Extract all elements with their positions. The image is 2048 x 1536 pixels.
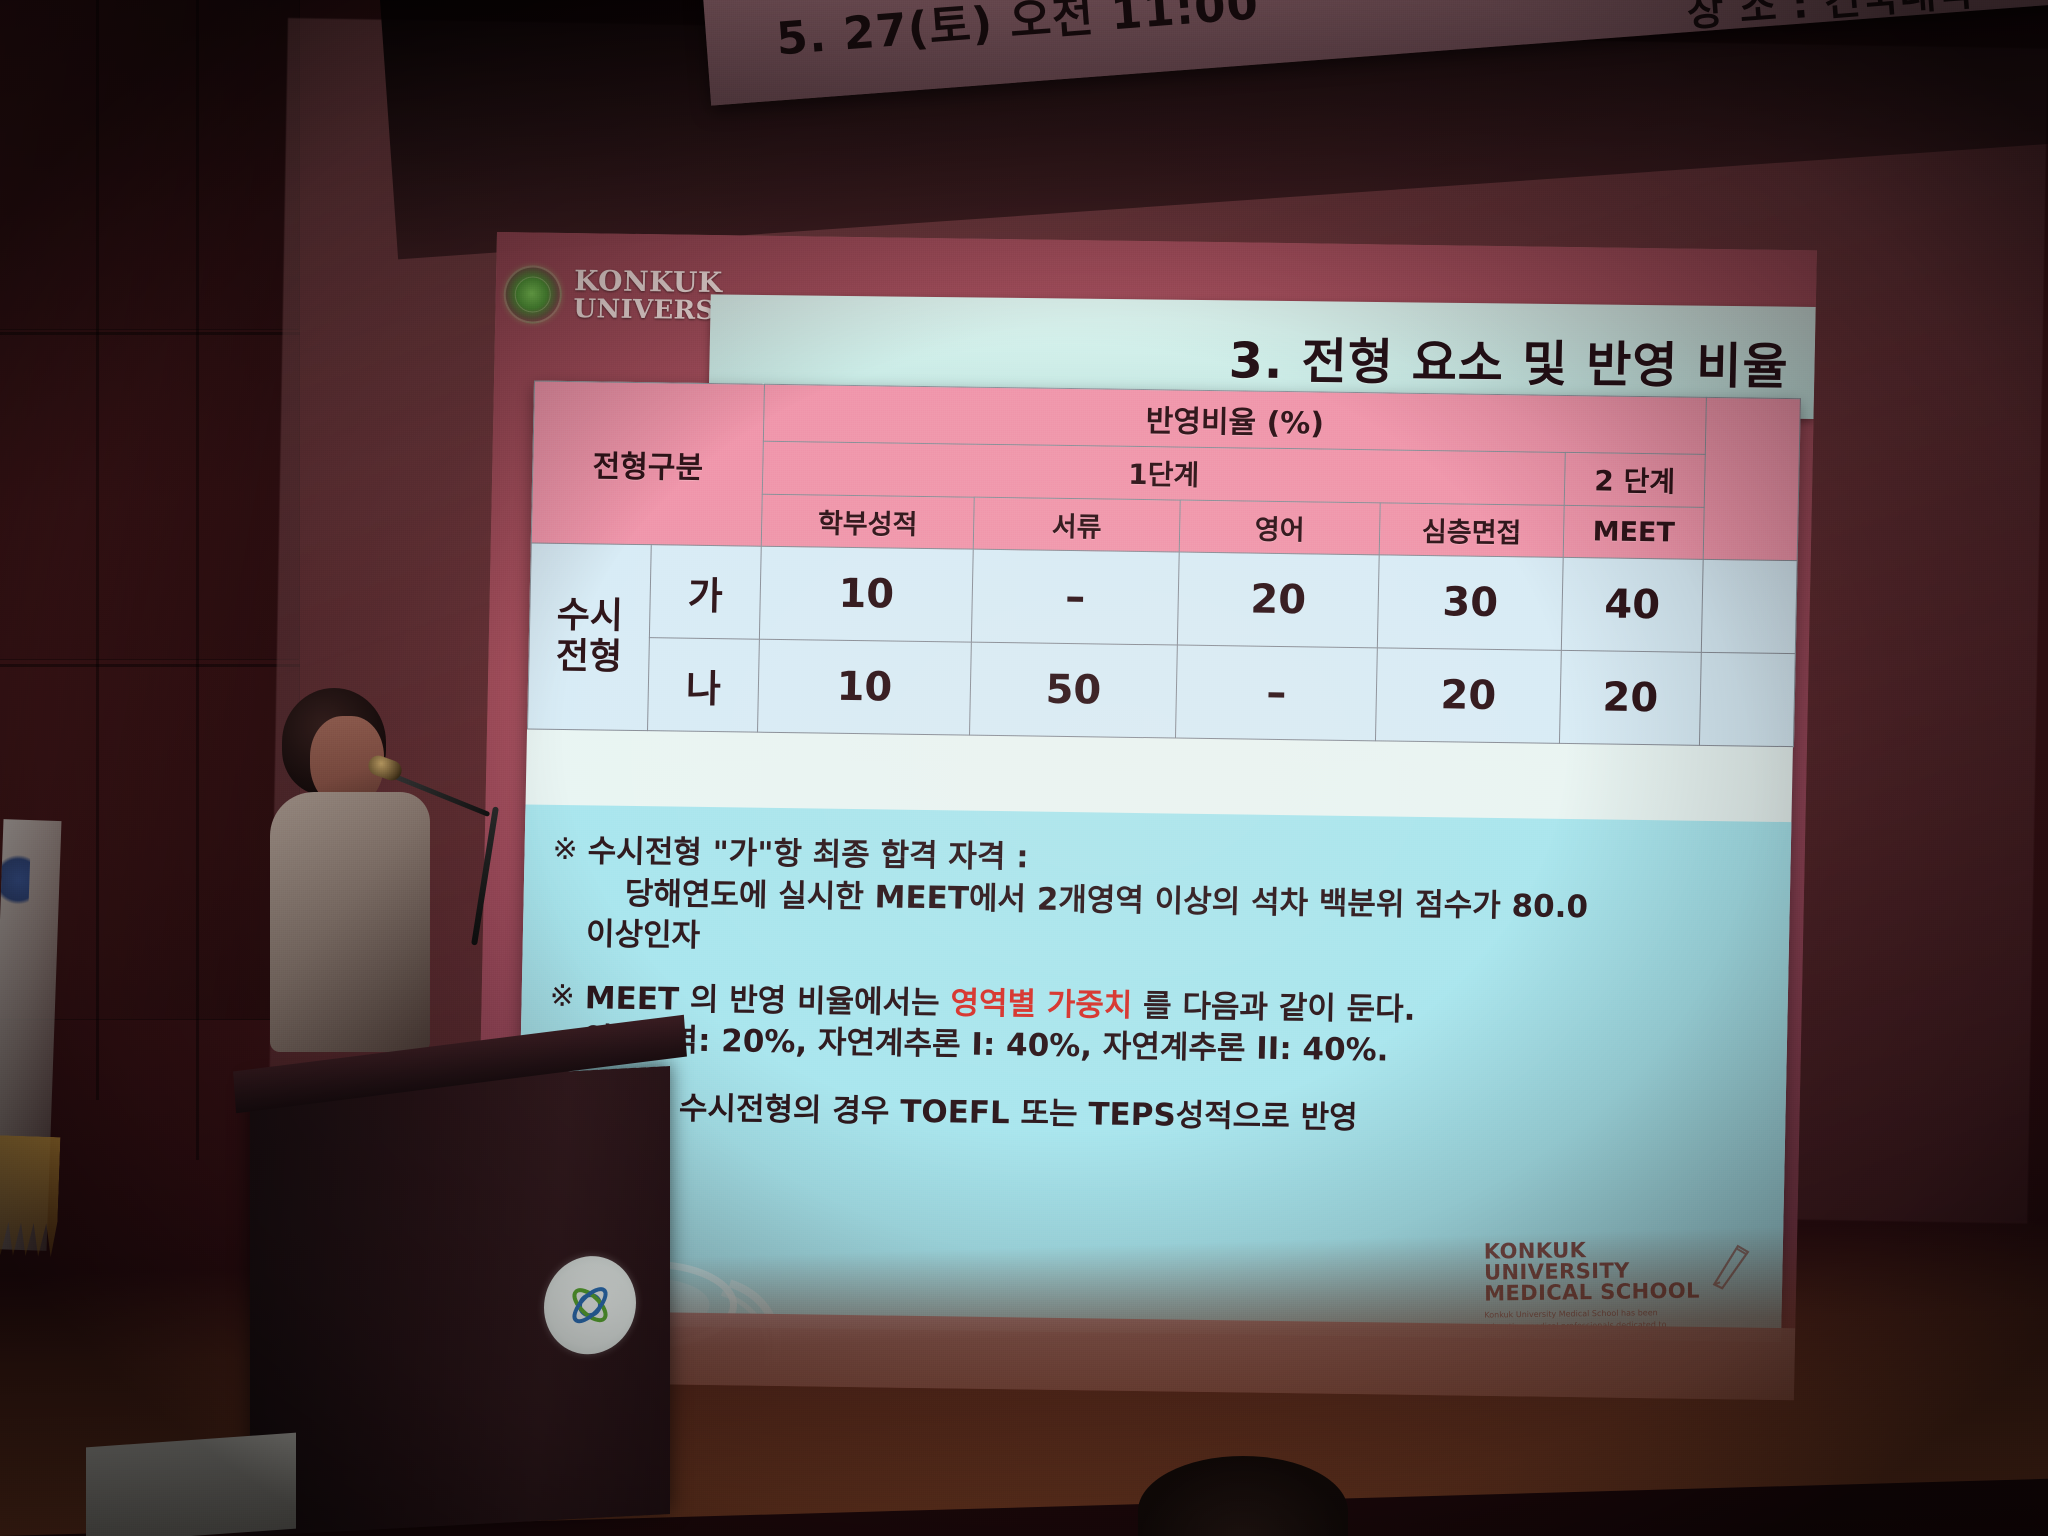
td-row-label-ga: 가 [649,545,761,640]
td-ga-undergrad: 10 [759,546,973,642]
th-spacer [1703,397,1800,560]
auditorium-scene: 의학전문대학원 5. 27(토) 오전 11:00 장 소 : 건국대학 KON… [0,0,2048,1536]
wall-seam [196,0,199,1160]
note-2-highlight: 영역별 가중치 [950,985,1133,1024]
admission-ratio-table: 전형구분 반영비율 (%) 1단계 2 단계 학부성적 서류 영어 심 [527,381,1801,748]
th-meet: MEET [1563,505,1704,559]
table-body: 수시전형 가 10 – 20 30 40 나 10 50 [528,543,1798,747]
th-undergrad-grades: 학부성적 [761,494,974,549]
konkuk-university-logo: KONKUK UNIVERSITY [503,254,745,337]
td-ga-documents: – [971,549,1179,645]
td-row-group-label: 수시전형 [528,543,652,731]
note-2-line2: 언어영역: 20%, 자연계추론 I: 40%, 자연계추론 II: 40%. [584,1019,1415,1072]
note-2-body: MEET 의 반영 비율에서는 영역별 가중치 를 다음과 같이 둔다. 언어영… [584,978,1416,1073]
slide-title: 3. 전형 요소 및 반영 비율 [1228,321,1789,398]
td-na-spacer [1699,652,1795,746]
table-head: 전형구분 반영비율 (%) 1단계 2 단계 학부성적 서류 영어 심 [531,381,1800,561]
note-1-line3: 이상인자 [586,916,701,954]
projected-slide: KONKUK UNIVERSITY 3. 전형 요소 및 반영 비율 [474,232,1817,1400]
podium-emblem-icon [544,1254,636,1357]
note-1-line1: 수시전형 "가"항 최종 합격 자격 : [587,833,1029,875]
foreground-table [86,1433,296,1536]
flag-fringe [0,1135,60,1257]
note-1-body: 수시전형 "가"항 최종 합격 자격 : 당해연도에 실시한 MEET에서 2개… [586,831,1590,970]
td-na-documents: 50 [969,642,1177,738]
flag-emblem-icon [0,849,30,910]
td-na-english: – [1175,645,1377,741]
note-marker-icon: ※ [552,831,578,869]
td-ga-spacer [1701,559,1797,653]
korean-flag [0,819,61,1251]
note-item-2: ※ MEET 의 반영 비율에서는 영역별 가중치 를 다음과 같이 둔다. 언… [548,977,1754,1077]
podium [250,1066,670,1536]
td-na-interview: 20 [1375,648,1561,744]
note-item-3: ※ 영어는 수시전형의 경우 TOEFL 또는 TEPS성적으로 반영 [547,1086,1752,1144]
table-row: 나 10 50 – 20 20 [528,636,1796,747]
presenter-body [270,792,430,1052]
td-row-label-na: 나 [648,638,760,733]
table-row: 수시전형 가 10 – 20 30 40 [529,543,1797,654]
th-deep-interview: 심층면접 [1379,503,1564,558]
note-2-pre: MEET 의 반영 비율에서는 [584,980,950,1021]
th-english: 영어 [1179,500,1380,555]
note-item-1: ※ 수시전형 "가"항 최종 합격 자격 : 당해연도에 실시한 MEET에서 … [550,831,1756,972]
td-ga-english: 20 [1177,552,1379,648]
wall-panel [0,330,300,660]
slide-content-card: 전형구분 반영비율 (%) 1단계 2 단계 학부성적 서류 영어 심 [515,381,1800,1342]
th-stage-2: 2 단계 [1564,452,1705,507]
wall-seam [0,332,300,335]
note-marker-icon: ※ [549,977,575,1015]
td-na-undergrad: 10 [758,639,972,735]
td-ga-interview: 30 [1377,555,1563,651]
td-na-meet: 20 [1559,650,1701,745]
note-1-line2: 당해연도에 실시한 MEET에서 2개영역 이상의 석차 백분위 점수가 80.… [586,873,1588,929]
wall-seam [0,664,300,667]
wall-seam [96,0,99,1100]
note-2-post: 를 다음과 같이 둔다. [1132,988,1416,1028]
banner-date-text: 5. 27(토) 오전 11:00 [774,0,1261,67]
th-documents: 서류 [973,497,1180,552]
td-ga-meet: 40 [1561,557,1703,652]
wall-panel [0,0,300,330]
th-admission-type: 전형구분 [531,381,764,546]
konkuk-seal-icon [503,265,562,324]
note-3-body: 영어는 수시전형의 경우 TOEFL 또는 TEPS성적으로 반영 [582,1087,1358,1139]
